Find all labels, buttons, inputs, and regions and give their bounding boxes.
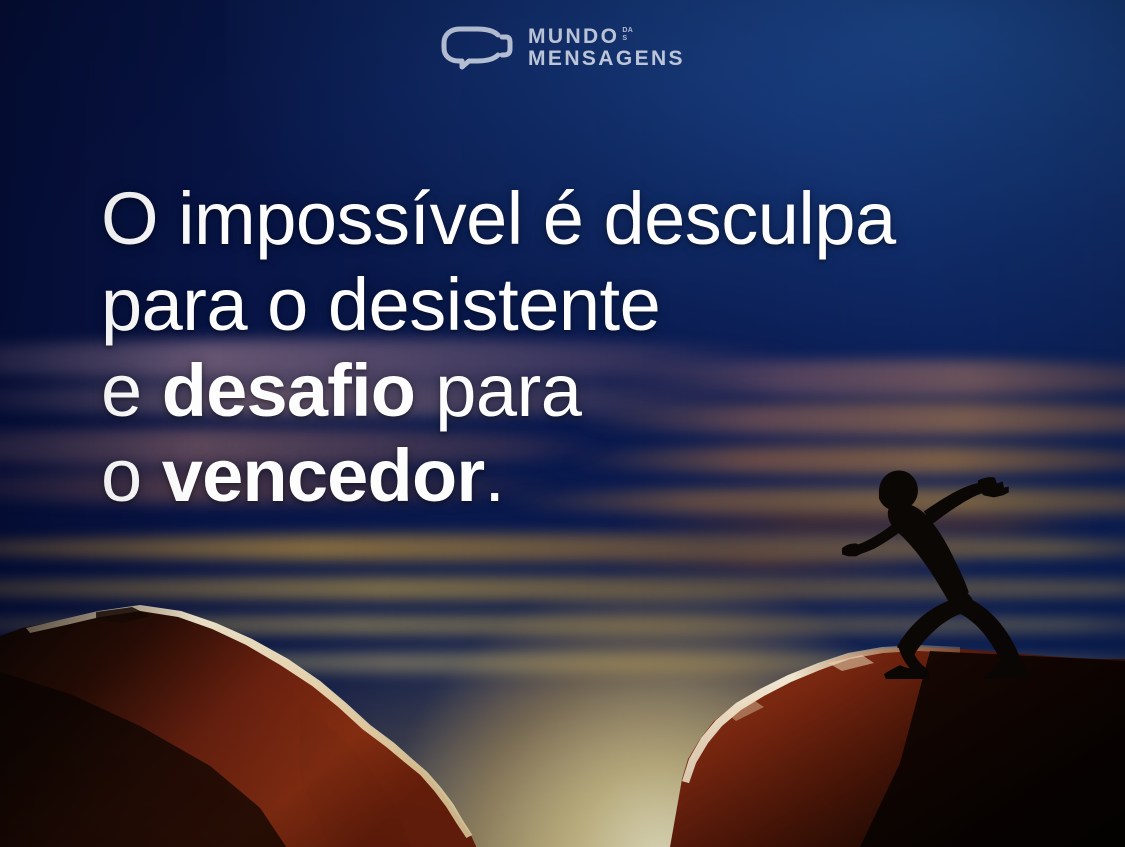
quote-line-2: para o desistente [101,262,1051,348]
quote-text: O impossível é desculpa para o desistent… [101,176,1051,519]
quote-poster: MUNDO DA S MENSAGENS O impossível é desc… [0,0,1125,847]
watermark-superscript: DA S [622,27,633,43]
watermark-line-2: MENSAGENS [528,48,685,70]
watermark-logo[interactable]: MUNDO DA S MENSAGENS [0,26,1125,71]
quote-line-3: e desafio para [101,348,1051,434]
quote-line-4: o vencedor. [101,433,1051,519]
watermark-line-1: MUNDO [528,26,619,48]
watermark-wordmark: MUNDO DA S MENSAGENS [528,26,685,71]
quote-line-1: O impossível é desculpa [101,176,1051,262]
quote-emphasis-desafio: desafio [162,349,415,432]
cliff-left [0,576,653,847]
quote-emphasis-vencedor: vencedor [162,434,485,517]
speech-bubble-icon [440,26,514,70]
